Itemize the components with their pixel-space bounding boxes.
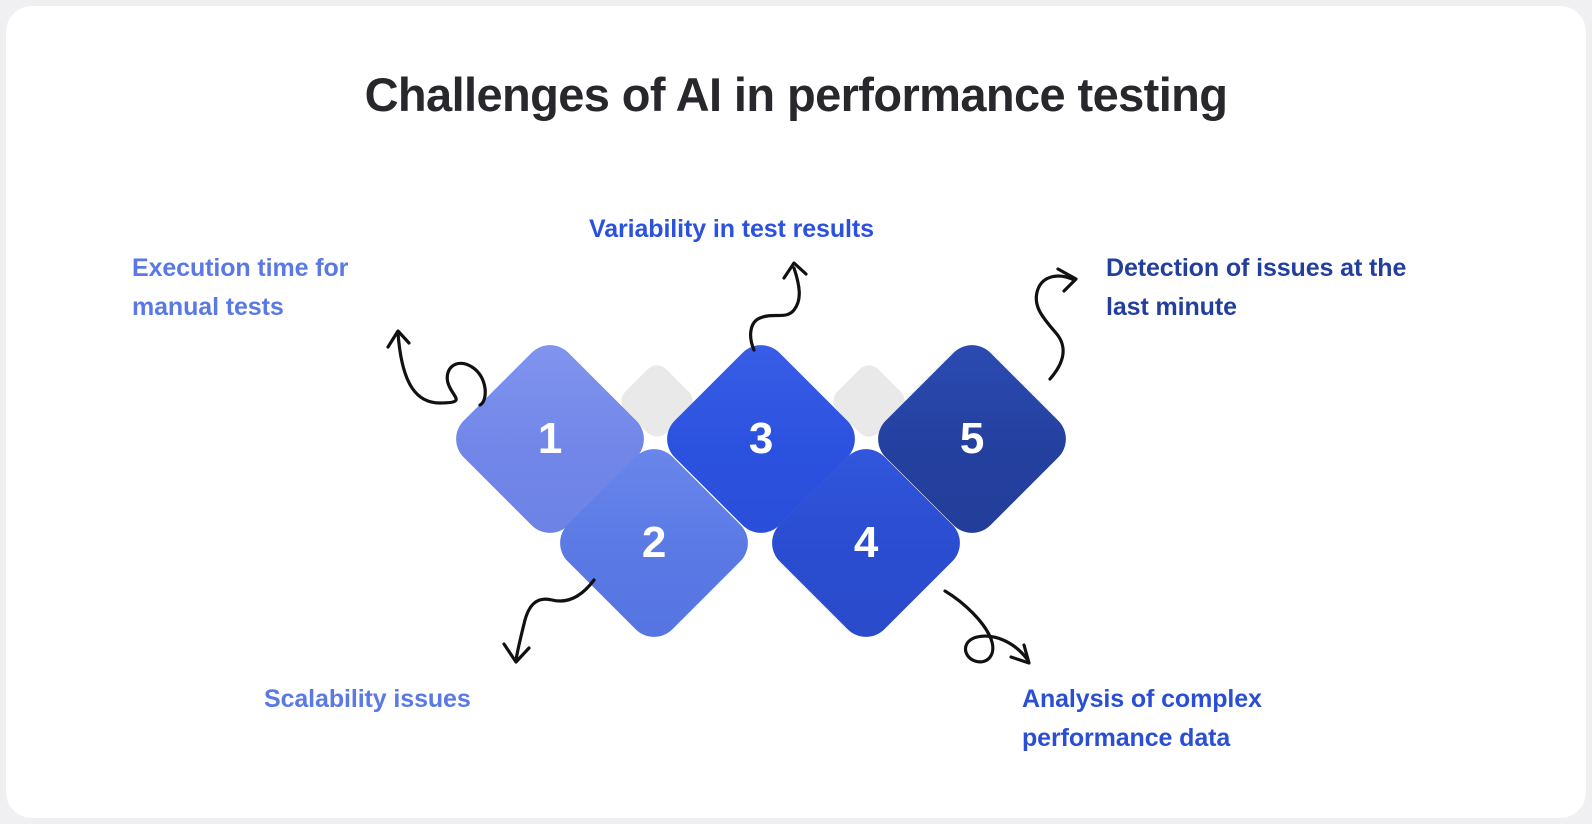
- label-scalability-issues: Scalability issues: [264, 680, 594, 719]
- curved-arrow-down-left-icon: [496, 574, 606, 674]
- label-analysis-of-complex-performance-data: Analysis of complex performance data: [1022, 680, 1352, 758]
- diamond-step-2-number: 2: [642, 521, 666, 565]
- label-variability-in-test-results: Variability in test results: [589, 210, 989, 249]
- page-title: Challenges of AI in performance testing: [6, 68, 1586, 122]
- diamond-step-5-number: 5: [960, 417, 984, 461]
- infographic-card: Challenges of AI in performance testing …: [6, 6, 1586, 818]
- diamond-step-4-number: 4: [854, 521, 878, 565]
- curly-loop-arrow-up-left-icon: [376, 311, 496, 411]
- diamond-step-3-number: 3: [749, 417, 773, 461]
- curly-loop-arrow-down-right-icon: [931, 581, 1041, 676]
- diamond-step-1-number: 1: [538, 417, 562, 461]
- s-curve-arrow-up-right-icon: [1008, 259, 1098, 384]
- s-curve-arrow-up-icon: [730, 254, 820, 354]
- label-detection-of-issues-at-the-last-minute: Detection of issues at the last minute: [1106, 249, 1446, 327]
